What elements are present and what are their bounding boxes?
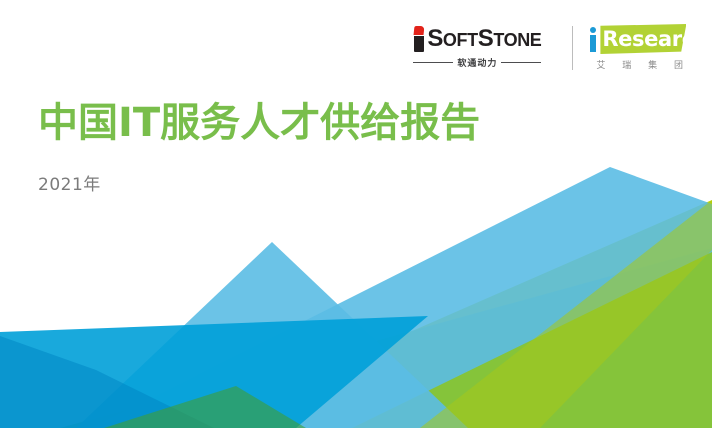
iresearch-subtitle-cn: 艾 瑞 集 团 (588, 58, 690, 71)
isoftstone-logo: SOFTSTONE 软通动力 (413, 26, 557, 69)
page-title: 中国IT服务人才供给报告 (38, 98, 480, 148)
iresearch-blue-dot-icon (590, 27, 596, 33)
report-cover-page: SOFTSTONE 软通动力 Research 艾 瑞 集 团 中国IT服务人才 (0, 0, 712, 428)
logo-bar: SOFTSTONE 软通动力 Research 艾 瑞 集 团 (413, 24, 690, 71)
isoftstone-i-stem-icon (414, 36, 424, 52)
iresearch-wordmark: Research (588, 24, 686, 54)
isoftstone-wordmark: SOFTSTONE (413, 26, 541, 53)
title-block: 中国IT服务人才供给报告 2021年 (38, 98, 480, 195)
logo-divider (572, 26, 573, 70)
iss-cap-s1: S (427, 25, 443, 52)
iresearch-i-glyph-icon (588, 27, 599, 52)
isoftstone-subtitle-cn: 软通动力 (457, 56, 497, 69)
isoftstone-rule-left (413, 62, 453, 63)
iss-cap-s2: S (478, 25, 494, 52)
iresearch-i-stem-icon (590, 35, 596, 52)
iss-tone: TONE (493, 30, 541, 50)
isoftstone-subtitle-row: 软通动力 (413, 56, 541, 69)
iresearch-logo: Research 艾 瑞 集 团 (588, 24, 690, 71)
isoftstone-wordmark-text: SOFTSTONE (427, 26, 541, 53)
isoftstone-rule-right (501, 62, 541, 63)
report-year: 2021年 (38, 170, 480, 195)
isoftstone-i-glyph-icon (413, 26, 425, 52)
iresearch-wordmark-text: Research (602, 26, 708, 52)
isoftstone-red-dot-icon (414, 26, 425, 35)
iss-oft: OFT (443, 30, 478, 50)
